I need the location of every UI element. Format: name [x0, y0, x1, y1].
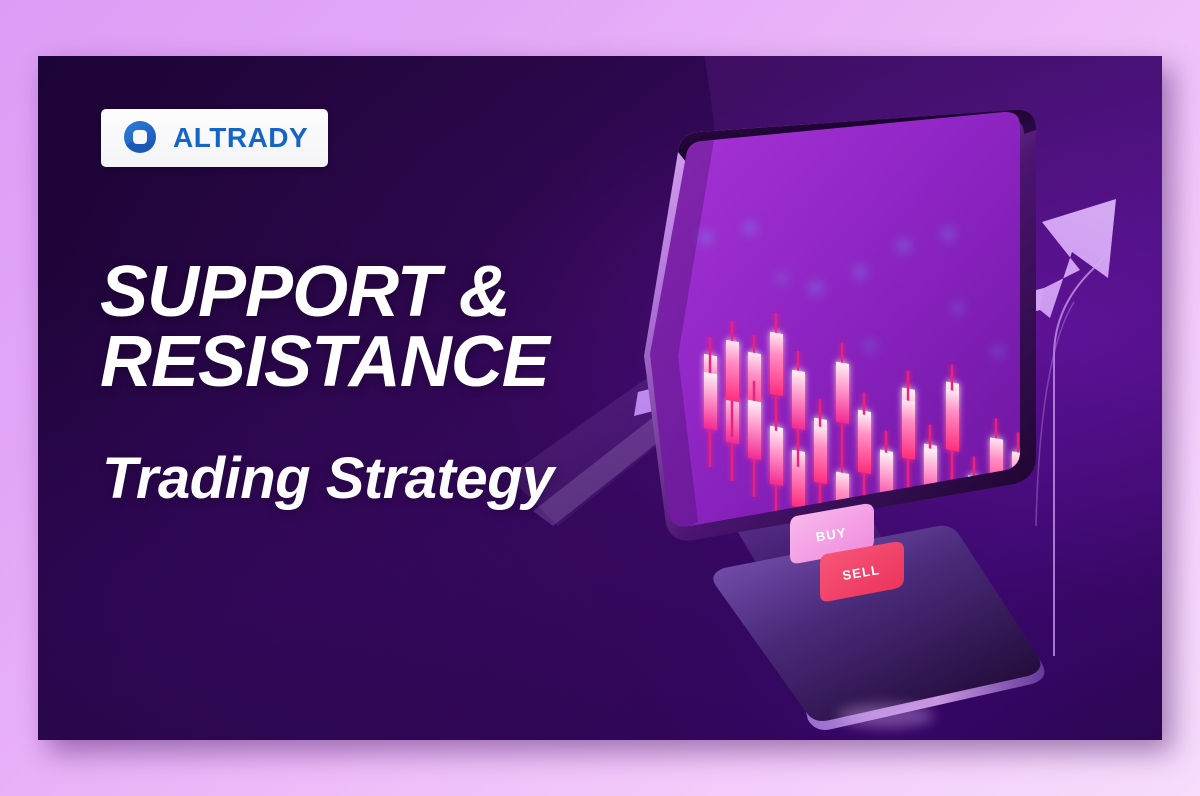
poster-canvas: BUY SELL A	[0, 0, 1200, 796]
headline-line-1: SUPPORT &	[100, 258, 700, 328]
page-title: SUPPORT & RESISTANCE	[100, 258, 700, 398]
page-subtitle: Trading Strategy	[102, 450, 702, 508]
altrady-circle-logo-icon	[119, 117, 161, 159]
brand-logo-badge[interactable]: ALTRADY	[101, 109, 328, 167]
brand-name-label: ALTRADY	[173, 124, 308, 152]
headline-line-2: RESISTANCE	[100, 328, 700, 398]
